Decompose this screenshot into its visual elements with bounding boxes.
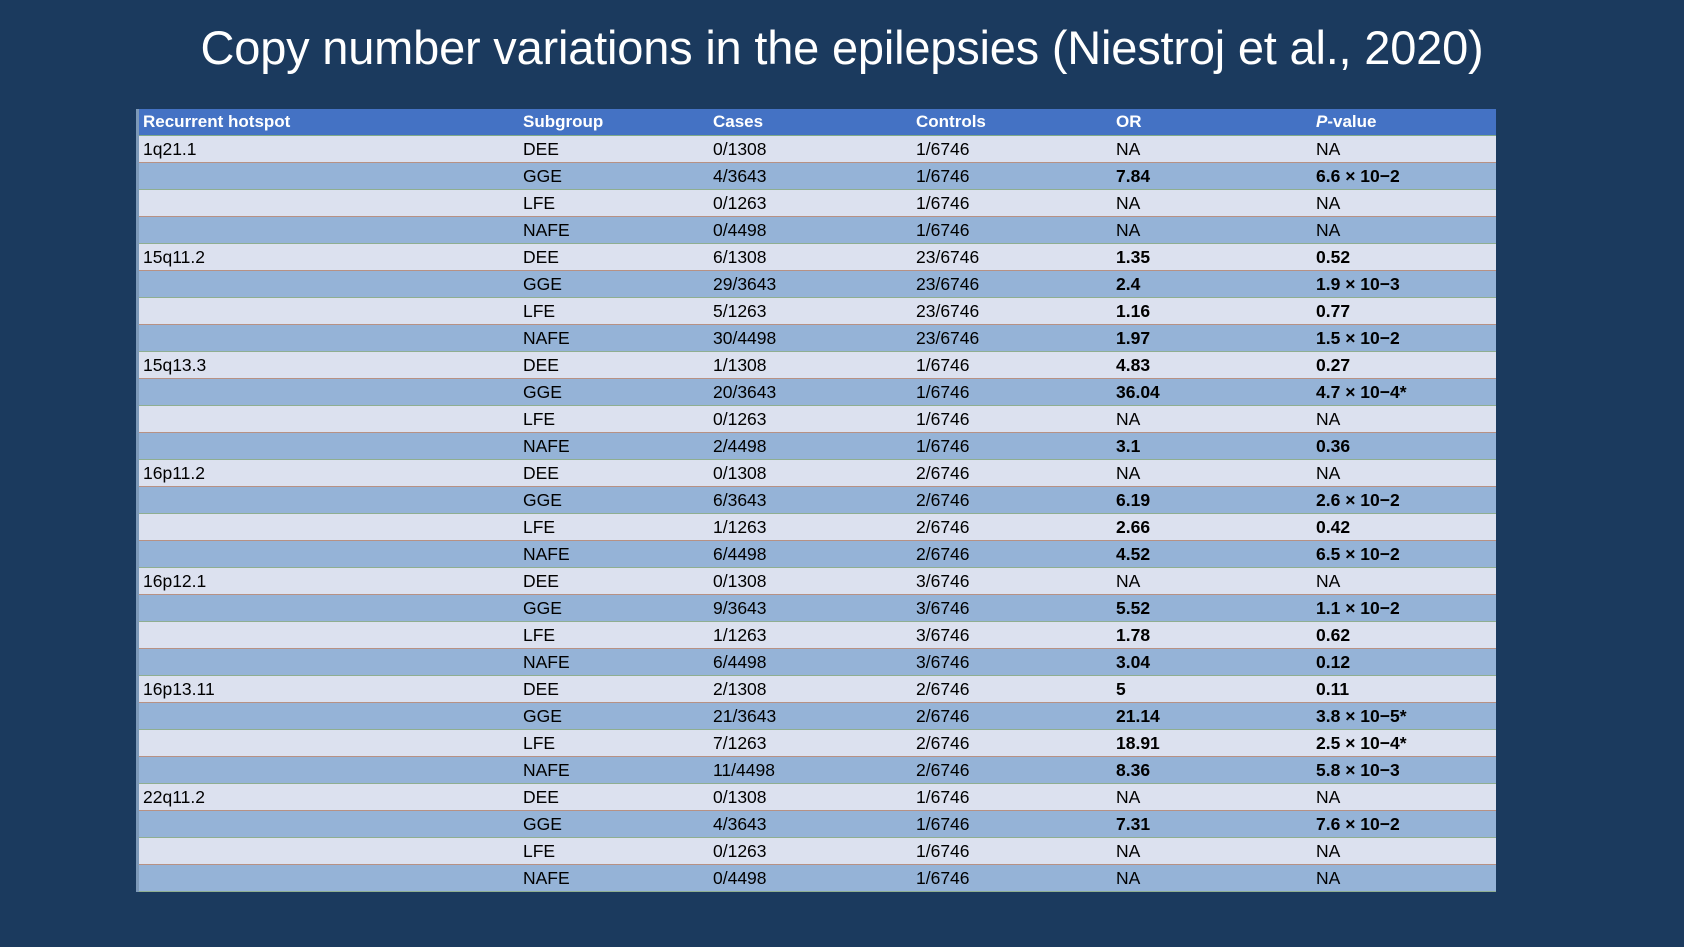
cell-hotspot: [139, 298, 519, 325]
cell-cases: 0/1308: [709, 460, 912, 487]
cell-pvalue: NA: [1312, 784, 1496, 811]
column-header-pvalue-suffix: -value: [1327, 112, 1376, 131]
table-row[interactable]: 22q11.2DEE0/13081/6746NANA: [139, 784, 1496, 811]
cell-or: NA: [1112, 217, 1312, 244]
cell-subgroup: NAFE: [519, 217, 709, 244]
cell-controls: 2/6746: [912, 460, 1112, 487]
cell-pvalue: 0.62: [1312, 622, 1496, 649]
table-row[interactable]: LFE7/12632/674618.912.5 × 10−4*: [139, 730, 1496, 757]
column-header-subgroup[interactable]: Subgroup: [519, 109, 709, 136]
cell-subgroup: DEE: [519, 460, 709, 487]
cell-pvalue: NA: [1312, 190, 1496, 217]
cell-pvalue: 0.11: [1312, 676, 1496, 703]
cell-hotspot: [139, 838, 519, 865]
cell-subgroup: NAFE: [519, 649, 709, 676]
cell-controls: 2/6746: [912, 487, 1112, 514]
table-row[interactable]: GGE29/364323/67462.41.9 × 10−3: [139, 271, 1496, 298]
cell-controls: 1/6746: [912, 190, 1112, 217]
cell-controls: 23/6746: [912, 325, 1112, 352]
cell-or: NA: [1112, 838, 1312, 865]
cell-pvalue: NA: [1312, 865, 1496, 892]
column-header-pvalue-p: P: [1316, 112, 1327, 131]
column-header-pvalue[interactable]: P-value: [1312, 109, 1496, 136]
cell-controls: 1/6746: [912, 352, 1112, 379]
cell-hotspot: 16p11.2: [139, 460, 519, 487]
cell-hotspot: [139, 703, 519, 730]
column-header-hotspot[interactable]: Recurrent hotspot: [139, 109, 519, 136]
cell-subgroup: DEE: [519, 244, 709, 271]
cell-cases: 0/1308: [709, 568, 912, 595]
cell-pvalue: 6.6 × 10−2: [1312, 163, 1496, 190]
cell-or: 3.1: [1112, 433, 1312, 460]
cell-cases: 1/1263: [709, 622, 912, 649]
table-row[interactable]: NAFE6/44983/67463.040.12: [139, 649, 1496, 676]
cell-subgroup: NAFE: [519, 325, 709, 352]
cell-hotspot: [139, 163, 519, 190]
cell-controls: 2/6746: [912, 730, 1112, 757]
table-row[interactable]: GGE21/36432/674621.143.8 × 10−5*: [139, 703, 1496, 730]
table-row[interactable]: 15q11.2DEE6/130823/67461.350.52: [139, 244, 1496, 271]
cell-hotspot: [139, 730, 519, 757]
cell-cases: 1/1263: [709, 514, 912, 541]
cnv-table: Recurrent hotspot Subgroup Cases Control…: [139, 109, 1496, 892]
cell-pvalue: 1.9 × 10−3: [1312, 271, 1496, 298]
cell-hotspot: [139, 190, 519, 217]
cell-cases: 4/3643: [709, 811, 912, 838]
cell-cases: 6/1308: [709, 244, 912, 271]
cell-pvalue: NA: [1312, 406, 1496, 433]
cell-or: 7.84: [1112, 163, 1312, 190]
cell-or: 4.83: [1112, 352, 1312, 379]
cell-cases: 2/4498: [709, 433, 912, 460]
cell-cases: 11/4498: [709, 757, 912, 784]
cell-or: 7.31: [1112, 811, 1312, 838]
cell-hotspot: [139, 757, 519, 784]
cell-pvalue: 7.6 × 10−2: [1312, 811, 1496, 838]
table-row[interactable]: LFE1/12632/67462.660.42: [139, 514, 1496, 541]
cell-subgroup: DEE: [519, 676, 709, 703]
cell-subgroup: NAFE: [519, 865, 709, 892]
cell-pvalue: NA: [1312, 838, 1496, 865]
cell-controls: 1/6746: [912, 163, 1112, 190]
table-row[interactable]: NAFE6/44982/67464.526.5 × 10−2: [139, 541, 1496, 568]
cell-cases: 21/3643: [709, 703, 912, 730]
cell-or: 2.66: [1112, 514, 1312, 541]
cell-or: 6.19: [1112, 487, 1312, 514]
cell-pvalue: 5.8 × 10−3: [1312, 757, 1496, 784]
table-row[interactable]: NAFE2/44981/67463.10.36: [139, 433, 1496, 460]
cell-or: NA: [1112, 784, 1312, 811]
cell-subgroup: GGE: [519, 487, 709, 514]
cell-subgroup: GGE: [519, 811, 709, 838]
cell-hotspot: 16p13.11: [139, 676, 519, 703]
table-row[interactable]: 16p12.1DEE0/13083/6746NANA: [139, 568, 1496, 595]
cell-or: 2.4: [1112, 271, 1312, 298]
cell-cases: 6/4498: [709, 649, 912, 676]
cell-pvalue: 0.42: [1312, 514, 1496, 541]
cell-hotspot: [139, 622, 519, 649]
cell-or: 1.78: [1112, 622, 1312, 649]
cell-controls: 1/6746: [912, 784, 1112, 811]
cell-controls: 23/6746: [912, 298, 1112, 325]
table-row[interactable]: LFE0/12631/6746NANA: [139, 190, 1496, 217]
cell-controls: 3/6746: [912, 595, 1112, 622]
cell-controls: 3/6746: [912, 649, 1112, 676]
cell-controls: 1/6746: [912, 217, 1112, 244]
table-body: 1q21.1DEE0/13081/6746NANAGGE4/36431/6746…: [139, 136, 1496, 892]
cell-controls: 1/6746: [912, 865, 1112, 892]
cell-controls: 1/6746: [912, 811, 1112, 838]
table-row[interactable]: LFE5/126323/67461.160.77: [139, 298, 1496, 325]
cnv-table-container: Recurrent hotspot Subgroup Cases Control…: [136, 109, 1469, 892]
cell-controls: 1/6746: [912, 838, 1112, 865]
slide-canvas: Copy number variations in the epilepsies…: [0, 0, 1684, 947]
cell-or: 1.35: [1112, 244, 1312, 271]
cell-cases: 6/3643: [709, 487, 912, 514]
cell-subgroup: GGE: [519, 703, 709, 730]
cell-cases: 7/1263: [709, 730, 912, 757]
cell-cases: 4/3643: [709, 163, 912, 190]
cell-pvalue: 0.52: [1312, 244, 1496, 271]
cell-or: NA: [1112, 568, 1312, 595]
cell-pvalue: NA: [1312, 460, 1496, 487]
cell-cases: 0/1308: [709, 784, 912, 811]
cell-pvalue: 0.36: [1312, 433, 1496, 460]
table-row[interactable]: 16p11.2DEE0/13082/6746NANA: [139, 460, 1496, 487]
table-row[interactable]: LFE0/12631/6746NANA: [139, 406, 1496, 433]
cell-hotspot: [139, 271, 519, 298]
cell-controls: 1/6746: [912, 433, 1112, 460]
cell-pvalue: 0.12: [1312, 649, 1496, 676]
cell-pvalue: 6.5 × 10−2: [1312, 541, 1496, 568]
cell-pvalue: NA: [1312, 136, 1496, 163]
cell-subgroup: GGE: [519, 271, 709, 298]
cell-hotspot: [139, 217, 519, 244]
cell-cases: 5/1263: [709, 298, 912, 325]
cell-subgroup: NAFE: [519, 757, 709, 784]
cell-controls: 3/6746: [912, 568, 1112, 595]
cell-hotspot: [139, 433, 519, 460]
cell-hotspot: [139, 865, 519, 892]
cell-hotspot: 15q11.2: [139, 244, 519, 271]
column-header-or[interactable]: OR: [1112, 109, 1312, 136]
cell-subgroup: LFE: [519, 514, 709, 541]
cell-cases: 30/4498: [709, 325, 912, 352]
cell-or: 5.52: [1112, 595, 1312, 622]
cell-or: 36.04: [1112, 379, 1312, 406]
cell-controls: 2/6746: [912, 703, 1112, 730]
table-row[interactable]: 16p13.11DEE2/13082/674650.11: [139, 676, 1496, 703]
cell-subgroup: DEE: [519, 352, 709, 379]
cell-pvalue: 4.7 × 10−4*: [1312, 379, 1496, 406]
table-row[interactable]: GGE20/36431/674636.044.7 × 10−4*: [139, 379, 1496, 406]
cell-or: NA: [1112, 460, 1312, 487]
table-header-row: Recurrent hotspot Subgroup Cases Control…: [139, 109, 1496, 136]
cell-or: 1.16: [1112, 298, 1312, 325]
cell-controls: 23/6746: [912, 271, 1112, 298]
cell-cases: 0/1308: [709, 136, 912, 163]
cell-hotspot: [139, 649, 519, 676]
cell-cases: 0/4498: [709, 865, 912, 892]
cell-pvalue: 1.1 × 10−2: [1312, 595, 1496, 622]
cell-subgroup: GGE: [519, 163, 709, 190]
cell-or: 3.04: [1112, 649, 1312, 676]
cell-cases: 6/4498: [709, 541, 912, 568]
cell-hotspot: [139, 595, 519, 622]
cell-controls: 23/6746: [912, 244, 1112, 271]
cell-subgroup: DEE: [519, 568, 709, 595]
cell-cases: 9/3643: [709, 595, 912, 622]
cell-hotspot: 16p12.1: [139, 568, 519, 595]
cell-pvalue: 3.8 × 10−5*: [1312, 703, 1496, 730]
cell-hotspot: 15q13.3: [139, 352, 519, 379]
cell-hotspot: [139, 379, 519, 406]
table-row[interactable]: NAFE0/44981/6746NANA: [139, 865, 1496, 892]
table-header: Recurrent hotspot Subgroup Cases Control…: [139, 109, 1496, 136]
cell-or: 5: [1112, 676, 1312, 703]
table-row[interactable]: NAFE30/449823/67461.971.5 × 10−2: [139, 325, 1496, 352]
page-title: Copy number variations in the epilepsies…: [0, 22, 1684, 74]
cell-pvalue: NA: [1312, 217, 1496, 244]
cell-hotspot: [139, 514, 519, 541]
cell-hotspot: 1q21.1: [139, 136, 519, 163]
cell-or: 21.14: [1112, 703, 1312, 730]
cell-hotspot: [139, 406, 519, 433]
table-row[interactable]: LFE1/12633/67461.780.62: [139, 622, 1496, 649]
cell-subgroup: GGE: [519, 379, 709, 406]
cell-pvalue: 0.27: [1312, 352, 1496, 379]
column-header-cases[interactable]: Cases: [709, 109, 912, 136]
cell-subgroup: GGE: [519, 595, 709, 622]
cell-subgroup: NAFE: [519, 541, 709, 568]
cell-hotspot: [139, 487, 519, 514]
cell-subgroup: DEE: [519, 784, 709, 811]
cell-hotspot: [139, 811, 519, 838]
cell-controls: 2/6746: [912, 541, 1112, 568]
column-header-controls[interactable]: Controls: [912, 109, 1112, 136]
cell-hotspot: [139, 325, 519, 352]
cell-controls: 1/6746: [912, 406, 1112, 433]
cell-or: NA: [1112, 190, 1312, 217]
cell-subgroup: LFE: [519, 730, 709, 757]
cell-or: 18.91: [1112, 730, 1312, 757]
table-row[interactable]: LFE0/12631/6746NANA: [139, 838, 1496, 865]
cell-controls: 2/6746: [912, 757, 1112, 784]
table-row[interactable]: GGE4/36431/67467.317.6 × 10−2: [139, 811, 1496, 838]
cell-cases: 0/4498: [709, 217, 912, 244]
cell-controls: 1/6746: [912, 136, 1112, 163]
cell-subgroup: LFE: [519, 406, 709, 433]
table-row[interactable]: 1q21.1DEE0/13081/6746NANA: [139, 136, 1496, 163]
cell-pvalue: 2.5 × 10−4*: [1312, 730, 1496, 757]
cell-cases: 0/1263: [709, 406, 912, 433]
cell-subgroup: DEE: [519, 136, 709, 163]
cell-cases: 0/1263: [709, 838, 912, 865]
cell-controls: 3/6746: [912, 622, 1112, 649]
cell-pvalue: 2.6 × 10−2: [1312, 487, 1496, 514]
cell-or: NA: [1112, 136, 1312, 163]
table-row[interactable]: GGE9/36433/67465.521.1 × 10−2: [139, 595, 1496, 622]
table-row[interactable]: GGE4/36431/67467.846.6 × 10−2: [139, 163, 1496, 190]
cell-cases: 1/1308: [709, 352, 912, 379]
cell-subgroup: LFE: [519, 622, 709, 649]
cell-controls: 1/6746: [912, 379, 1112, 406]
table-row[interactable]: GGE6/36432/67466.192.6 × 10−2: [139, 487, 1496, 514]
table-row[interactable]: NAFE11/44982/67468.365.8 × 10−3: [139, 757, 1496, 784]
cell-or: 1.97: [1112, 325, 1312, 352]
cell-pvalue: 1.5 × 10−2: [1312, 325, 1496, 352]
cell-or: NA: [1112, 406, 1312, 433]
cell-pvalue: NA: [1312, 568, 1496, 595]
cell-pvalue: 0.77: [1312, 298, 1496, 325]
cell-cases: 0/1263: [709, 190, 912, 217]
cell-hotspot: 22q11.2: [139, 784, 519, 811]
cell-cases: 2/1308: [709, 676, 912, 703]
cell-cases: 20/3643: [709, 379, 912, 406]
cell-controls: 2/6746: [912, 676, 1112, 703]
cell-or: 8.36: [1112, 757, 1312, 784]
cell-subgroup: LFE: [519, 190, 709, 217]
cell-controls: 2/6746: [912, 514, 1112, 541]
cell-subgroup: LFE: [519, 838, 709, 865]
cell-cases: 29/3643: [709, 271, 912, 298]
cell-subgroup: NAFE: [519, 433, 709, 460]
cell-hotspot: [139, 541, 519, 568]
table-row[interactable]: 15q13.3DEE1/13081/67464.830.27: [139, 352, 1496, 379]
table-row[interactable]: NAFE0/44981/6746NANA: [139, 217, 1496, 244]
cell-or: NA: [1112, 865, 1312, 892]
cell-or: 4.52: [1112, 541, 1312, 568]
cell-subgroup: LFE: [519, 298, 709, 325]
